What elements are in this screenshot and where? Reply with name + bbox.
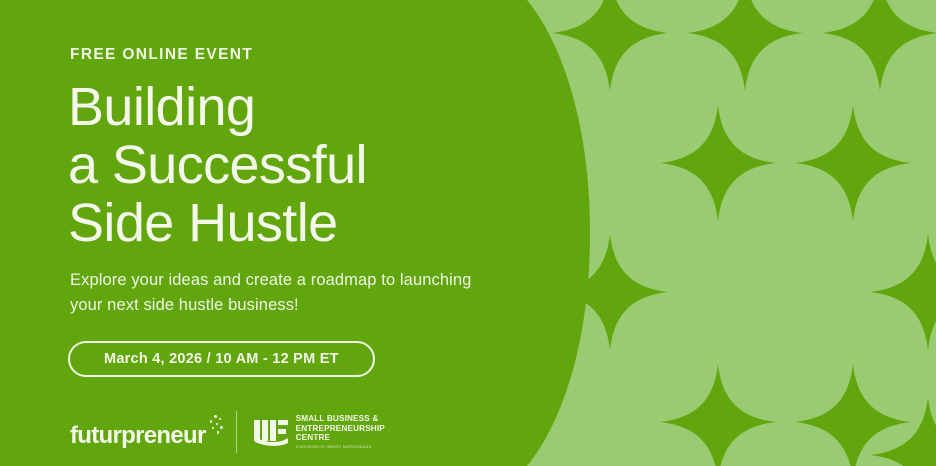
event-date-label: March 4, 2026 / 10 AM - 12 PM ET — [104, 351, 339, 367]
headline-line-2: a Successful — [68, 136, 538, 194]
sbec-name-line-3: CENTRE — [296, 433, 385, 442]
page-title: Building a Successful Side Hustle — [68, 78, 538, 252]
futurpreneur-logo[interactable]: futurpreneur — [70, 415, 206, 449]
sbec-tagline: A DIVISION OF INVEST MISSISSAUGA — [296, 445, 385, 450]
banner-content: FREE ONLINE EVENT Building a Successful … — [0, 0, 560, 466]
sbec-name: SMALL BUSINESS & ENTREPRENEURSHIP CENTRE — [296, 414, 385, 442]
sbec-logo[interactable]: SMALL BUSINESS & ENTREPRENEURSHIP CENTRE… — [253, 414, 385, 449]
sbec-logo-text: SMALL BUSINESS & ENTREPRENEURSHIP CENTRE… — [296, 414, 385, 449]
subtitle-line-1: Explore your ideas and create a roadmap … — [70, 268, 550, 293]
sbec-name-line-1: SMALL BUSINESS & — [296, 414, 385, 423]
logo-lockup: futurpreneur — [70, 408, 385, 456]
subtitle-text: Explore your ideas and create a roadmap … — [70, 268, 550, 318]
eyebrow-label: FREE ONLINE EVENT — [70, 46, 253, 64]
logo-divider — [236, 411, 237, 453]
headline-line-1: Building — [68, 78, 538, 136]
futurpreneur-wordmark: futurpreneur — [70, 423, 206, 449]
event-date-pill[interactable]: March 4, 2026 / 10 AM - 12 PM ET — [68, 341, 375, 377]
sbec-name-line-2: ENTREPRENEURSHIP — [296, 424, 385, 433]
sbec-mark-icon — [253, 417, 289, 447]
headline-line-3: Side Hustle — [68, 194, 538, 252]
subtitle-line-2: your next side hustle business! — [70, 293, 550, 318]
event-promo-banner: FREE ONLINE EVENT Building a Successful … — [0, 0, 936, 466]
sparkle-dots-icon — [201, 415, 223, 437]
